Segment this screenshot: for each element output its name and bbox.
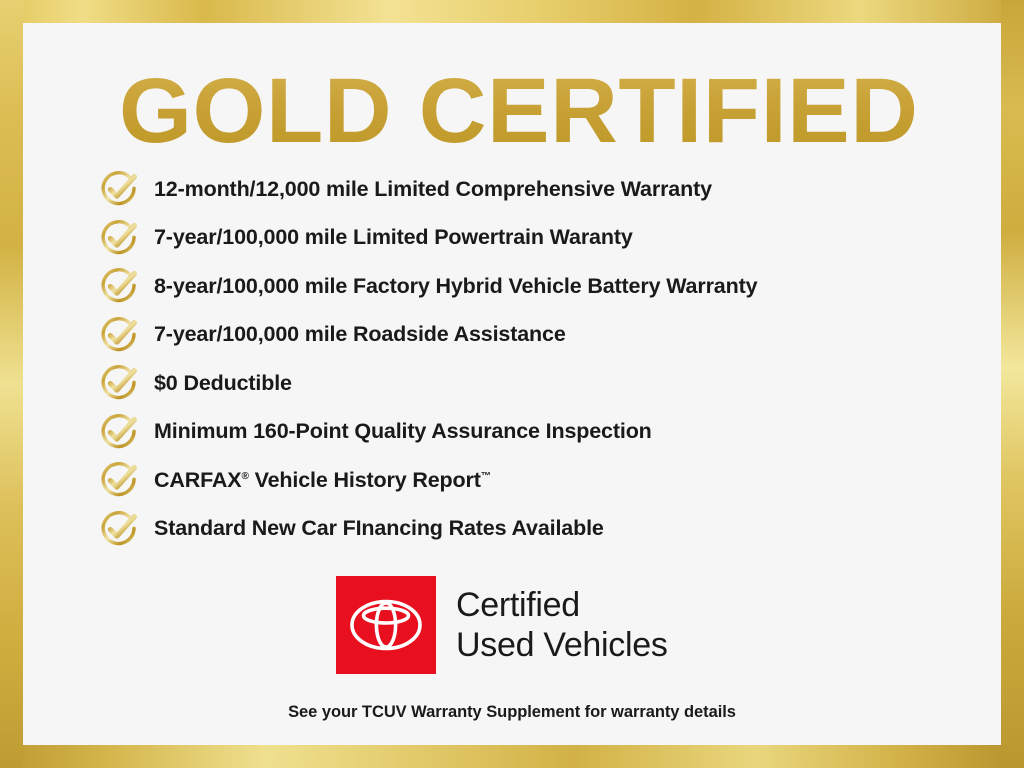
list-item: Minimum 160-Point Quality Assurance Insp…	[98, 408, 998, 457]
registered-mark: ®	[242, 470, 249, 481]
list-item: 7-year/100,000 mile Roadside Assistance	[98, 311, 998, 360]
list-item-label-carfax: CARFAX® Vehicle History Report™	[154, 470, 491, 492]
list-item: Standard New Car FInancing Rates Availab…	[98, 505, 998, 554]
gold-check-circle-icon	[98, 362, 140, 404]
list-item-label: 8-year/100,000 mile Factory Hybrid Vehic…	[154, 276, 757, 298]
list-item: 8-year/100,000 mile Factory Hybrid Vehic…	[98, 262, 998, 311]
badge-content-area: GOLD CERTIFIED	[23, 23, 1001, 745]
gold-check-circle-icon	[98, 217, 140, 259]
gold-check-circle-icon	[98, 168, 140, 210]
logo-line-2: Used Vehicles	[456, 625, 668, 665]
list-item-label: 7-year/100,000 mile Limited Powertrain W…	[154, 227, 633, 249]
toyota-certified-used-vehicles-logo: Certified Used Vehicles	[336, 576, 668, 674]
list-item-label: $0 Deductible	[154, 373, 292, 395]
warranty-disclaimer: See your TCUV Warranty Supplement for wa…	[23, 703, 1001, 722]
toyota-certified-used-vehicles-wordmark: Certified Used Vehicles	[456, 585, 668, 665]
list-item: $0 Deductible	[98, 359, 998, 408]
gold-check-circle-icon	[98, 459, 140, 501]
list-item-label: Standard New Car FInancing Rates Availab…	[154, 518, 604, 540]
frame-border-left	[0, 0, 23, 768]
frame-border-bottom	[0, 745, 1024, 768]
gold-check-circle-icon	[98, 265, 140, 307]
list-item-label: 7-year/100,000 mile Roadside Assistance	[154, 324, 566, 346]
list-item: 12-month/12,000 mile Limited Comprehensi…	[98, 165, 998, 214]
trademark-mark: ™	[481, 470, 491, 481]
page-title: GOLD CERTIFIED	[119, 63, 986, 159]
list-item: CARFAX® Vehicle History Report™	[98, 456, 998, 505]
list-item-label: 12-month/12,000 mile Limited Comprehensi…	[154, 179, 712, 201]
carfax-wordmark: CARFAX	[154, 468, 242, 492]
list-item-label: Minimum 160-Point Quality Assurance Insp…	[154, 421, 652, 443]
frame-border-right	[1001, 0, 1024, 768]
gold-check-circle-icon	[98, 508, 140, 550]
frame-border-top	[0, 0, 1024, 23]
toyota-emblem-icon	[336, 576, 436, 674]
gold-certified-badge: GOLD CERTIFIED	[0, 0, 1024, 768]
logo-line-1: Certified	[456, 585, 668, 625]
gold-check-circle-icon	[98, 411, 140, 453]
benefits-list: 12-month/12,000 mile Limited Comprehensi…	[98, 165, 998, 553]
list-item: 7-year/100,000 mile Limited Powertrain W…	[98, 214, 998, 263]
gold-check-circle-icon	[98, 314, 140, 356]
carfax-report-label: Vehicle History Report	[249, 468, 481, 492]
